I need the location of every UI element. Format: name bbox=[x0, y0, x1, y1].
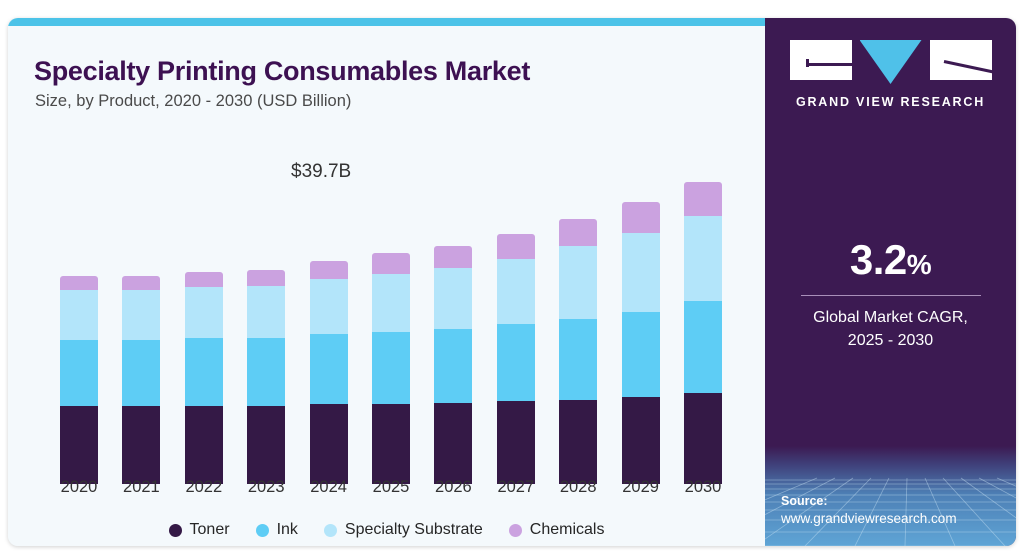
footer-grid-graphic: Source: www.grandviewresearch.com bbox=[765, 446, 1016, 546]
bar-group bbox=[559, 219, 597, 484]
legend-item-toner[interactable]: Toner bbox=[169, 521, 230, 539]
cagr-label-line1: Global Market CAGR, bbox=[765, 306, 1016, 329]
logo-v-icon bbox=[860, 40, 922, 84]
legend-label: Ink bbox=[277, 521, 298, 539]
bar-segment-specialty-substrate bbox=[622, 233, 660, 313]
bar-segment-toner bbox=[60, 406, 98, 484]
bar-segment-specialty-substrate bbox=[559, 246, 597, 319]
legend-label: Specialty Substrate bbox=[345, 521, 483, 539]
bar-segment-chemicals bbox=[372, 253, 410, 274]
bar-segment-specialty-substrate bbox=[684, 216, 722, 301]
bar-segment-chemicals bbox=[622, 202, 660, 232]
legend-swatch-icon bbox=[169, 524, 182, 537]
logo-g-icon bbox=[790, 40, 852, 80]
bar-group bbox=[185, 272, 223, 484]
x-axis-label: 2030 bbox=[673, 478, 733, 497]
x-axis-label: 2029 bbox=[611, 478, 671, 497]
bar-segment-toner bbox=[247, 406, 285, 484]
bar-group bbox=[684, 182, 722, 484]
x-axis-label: 2023 bbox=[236, 478, 296, 497]
logo-marks bbox=[790, 40, 992, 84]
bar-group bbox=[372, 253, 410, 484]
legend-label: Chemicals bbox=[530, 521, 605, 539]
stacked-bar-plot: 2020202120222023202420252026202720282029… bbox=[8, 26, 765, 496]
bar-segment-ink bbox=[684, 301, 722, 393]
bar-segment-ink bbox=[497, 324, 535, 401]
cagr-value: 3.2% bbox=[765, 236, 1016, 284]
bar-group bbox=[247, 270, 285, 484]
bar-segment-toner bbox=[310, 404, 348, 484]
bar-segment-ink bbox=[60, 340, 98, 407]
bar-segment-specialty-substrate bbox=[247, 286, 285, 338]
x-axis-label: 2026 bbox=[423, 478, 483, 497]
x-axis-label: 2027 bbox=[486, 478, 546, 497]
bar-segment-toner bbox=[622, 397, 660, 484]
bar-segment-toner bbox=[559, 400, 597, 484]
infographic-card: Specialty Printing Consumables Market Si… bbox=[8, 18, 1016, 546]
bar-segment-chemicals bbox=[684, 182, 722, 215]
cagr-label-line2: 2025 - 2030 bbox=[765, 329, 1016, 352]
bar-group bbox=[310, 261, 348, 484]
bar-segment-specialty-substrate bbox=[185, 287, 223, 338]
bar-segment-ink bbox=[622, 312, 660, 397]
legend-item-chemicals[interactable]: Chemicals bbox=[509, 521, 605, 539]
bar-segment-specialty-substrate bbox=[372, 274, 410, 332]
x-axis-label: 2028 bbox=[548, 478, 608, 497]
bar-segment-ink bbox=[310, 334, 348, 404]
source-url: www.grandviewresearch.com bbox=[781, 510, 957, 528]
bar-group bbox=[60, 276, 98, 484]
x-axis-label: 2022 bbox=[174, 478, 234, 497]
bar-segment-toner bbox=[434, 403, 472, 484]
bar-segment-toner bbox=[185, 406, 223, 484]
bar-group bbox=[622, 202, 660, 484]
cagr-label: Global Market CAGR, 2025 - 2030 bbox=[765, 306, 1016, 352]
legend-swatch-icon bbox=[324, 524, 337, 537]
bar-segment-chemicals bbox=[185, 272, 223, 287]
legend-swatch-icon bbox=[509, 524, 522, 537]
x-axis-label: 2021 bbox=[111, 478, 171, 497]
x-axis-label: 2025 bbox=[361, 478, 421, 497]
source-block: Source: www.grandviewresearch.com bbox=[781, 493, 957, 528]
logo-r-icon bbox=[930, 40, 992, 80]
bar-segment-toner bbox=[122, 406, 160, 484]
bar-segment-toner bbox=[684, 393, 722, 484]
cagr-percent-sign: % bbox=[907, 249, 931, 280]
brand-panel: GRAND VIEW RESEARCH 3.2% Global Market C… bbox=[765, 18, 1016, 546]
brand-logo: GRAND VIEW RESEARCH bbox=[765, 40, 1016, 109]
bar-group bbox=[434, 246, 472, 484]
bar-segment-ink bbox=[185, 338, 223, 405]
x-axis-label: 2024 bbox=[299, 478, 359, 497]
bar-segment-ink bbox=[122, 340, 160, 407]
legend-label: Toner bbox=[190, 521, 230, 539]
legend-swatch-icon bbox=[256, 524, 269, 537]
bar-segment-chemicals bbox=[434, 246, 472, 268]
chart-panel: Specialty Printing Consumables Market Si… bbox=[8, 26, 765, 546]
bar-segment-ink bbox=[559, 319, 597, 400]
bar-segment-chemicals bbox=[497, 234, 535, 258]
bar-segment-chemicals bbox=[559, 219, 597, 246]
bar-segment-ink bbox=[372, 332, 410, 404]
bar-segment-chemicals bbox=[60, 276, 98, 290]
bar-segment-toner bbox=[497, 401, 535, 484]
bar-segment-specialty-substrate bbox=[310, 279, 348, 334]
bar-segment-specialty-substrate bbox=[497, 259, 535, 325]
legend-item-specialty-substrate[interactable]: Specialty Substrate bbox=[324, 521, 483, 539]
source-label: Source: bbox=[781, 493, 957, 510]
accent-bar bbox=[8, 18, 765, 26]
cagr-number: 3.2 bbox=[850, 236, 907, 283]
bar-segment-chemicals bbox=[247, 270, 285, 286]
bar-segment-ink bbox=[434, 329, 472, 403]
bar-segment-specialty-substrate bbox=[122, 290, 160, 339]
bar-group bbox=[122, 276, 160, 484]
bar-segment-specialty-substrate bbox=[60, 290, 98, 339]
bar-group bbox=[497, 234, 535, 484]
brand-name: GRAND VIEW RESEARCH bbox=[796, 95, 985, 109]
bar-segment-chemicals bbox=[310, 261, 348, 279]
bar-segment-chemicals bbox=[122, 276, 160, 290]
bar-segment-ink bbox=[247, 338, 285, 406]
bar-segment-toner bbox=[372, 404, 410, 484]
chart-legend: TonerInkSpecialty SubstrateChemicals bbox=[8, 521, 765, 539]
x-axis-label: 2020 bbox=[49, 478, 109, 497]
bar-segment-specialty-substrate bbox=[434, 268, 472, 329]
legend-item-ink[interactable]: Ink bbox=[256, 521, 298, 539]
divider bbox=[801, 295, 981, 296]
